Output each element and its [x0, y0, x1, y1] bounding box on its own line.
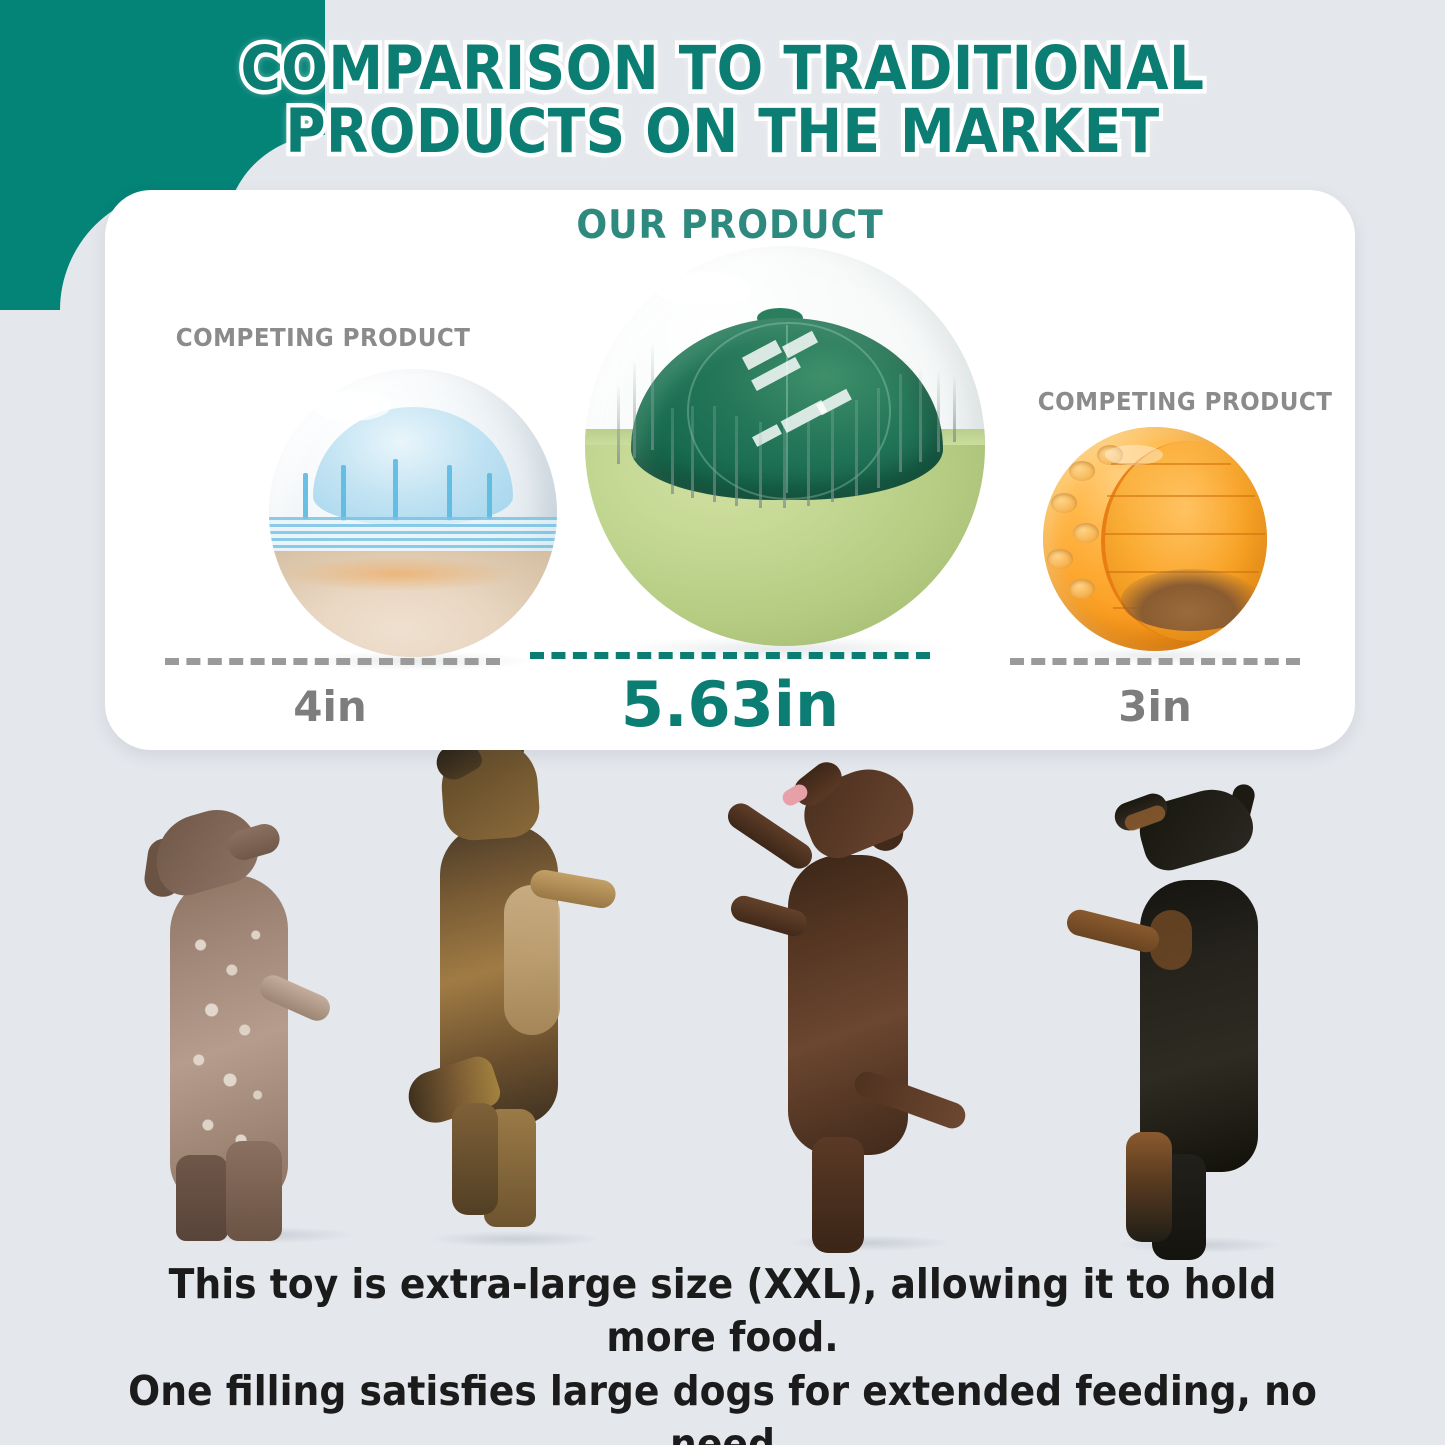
- size-label-right: 3in: [1010, 682, 1300, 731]
- page-title: COMPARISON TO TRADITIONAL PRODUCTS ON TH…: [72, 38, 1373, 164]
- dog-chocolate-labrador: [720, 765, 1000, 1255]
- footer-description: This toy is extra-large size (XXL), allo…: [113, 1258, 1332, 1445]
- left-ball-highlight: [313, 391, 391, 421]
- dog-doberman: [1070, 780, 1320, 1260]
- right-ball-kibble: [1121, 569, 1261, 631]
- dog-german-shorthaired-pointer: [150, 805, 380, 1245]
- dogs-photo-row: [0, 735, 1445, 1255]
- center-ball-bristles: [615, 308, 959, 498]
- dog-german-shepherd: [400, 735, 650, 1245]
- competing-product-label-right: COMPETING PRODUCT: [1038, 387, 1333, 416]
- left-ball-fin: [447, 465, 452, 521]
- size-label-left: 4in: [165, 682, 495, 731]
- infographic-stage: COMPARISON TO TRADITIONAL PRODUCTS ON TH…: [0, 0, 1445, 1445]
- left-ball-fin: [393, 459, 398, 521]
- comparison-card: OUR PRODUCT COMPETING PRODUCT COMPETING …: [105, 190, 1355, 750]
- left-ball-fin: [303, 473, 308, 519]
- center-ball-top-highlight: [655, 272, 751, 306]
- right-ball-sphere: [1043, 427, 1267, 651]
- right-ball-window: [1101, 441, 1267, 641]
- competing-product-image-right: [1025, 425, 1325, 675]
- size-rule-center: [530, 652, 930, 659]
- our-product-image: [475, 238, 985, 688]
- size-rule-right: [1010, 658, 1300, 665]
- right-ball-highlight: [1105, 445, 1163, 465]
- left-ball-fin: [341, 465, 346, 521]
- size-label-center: 5.63in: [535, 668, 925, 741]
- competing-product-label-left: COMPETING PRODUCT: [176, 323, 471, 352]
- size-rule-left: [165, 658, 500, 665]
- center-ball-sphere: [585, 246, 985, 646]
